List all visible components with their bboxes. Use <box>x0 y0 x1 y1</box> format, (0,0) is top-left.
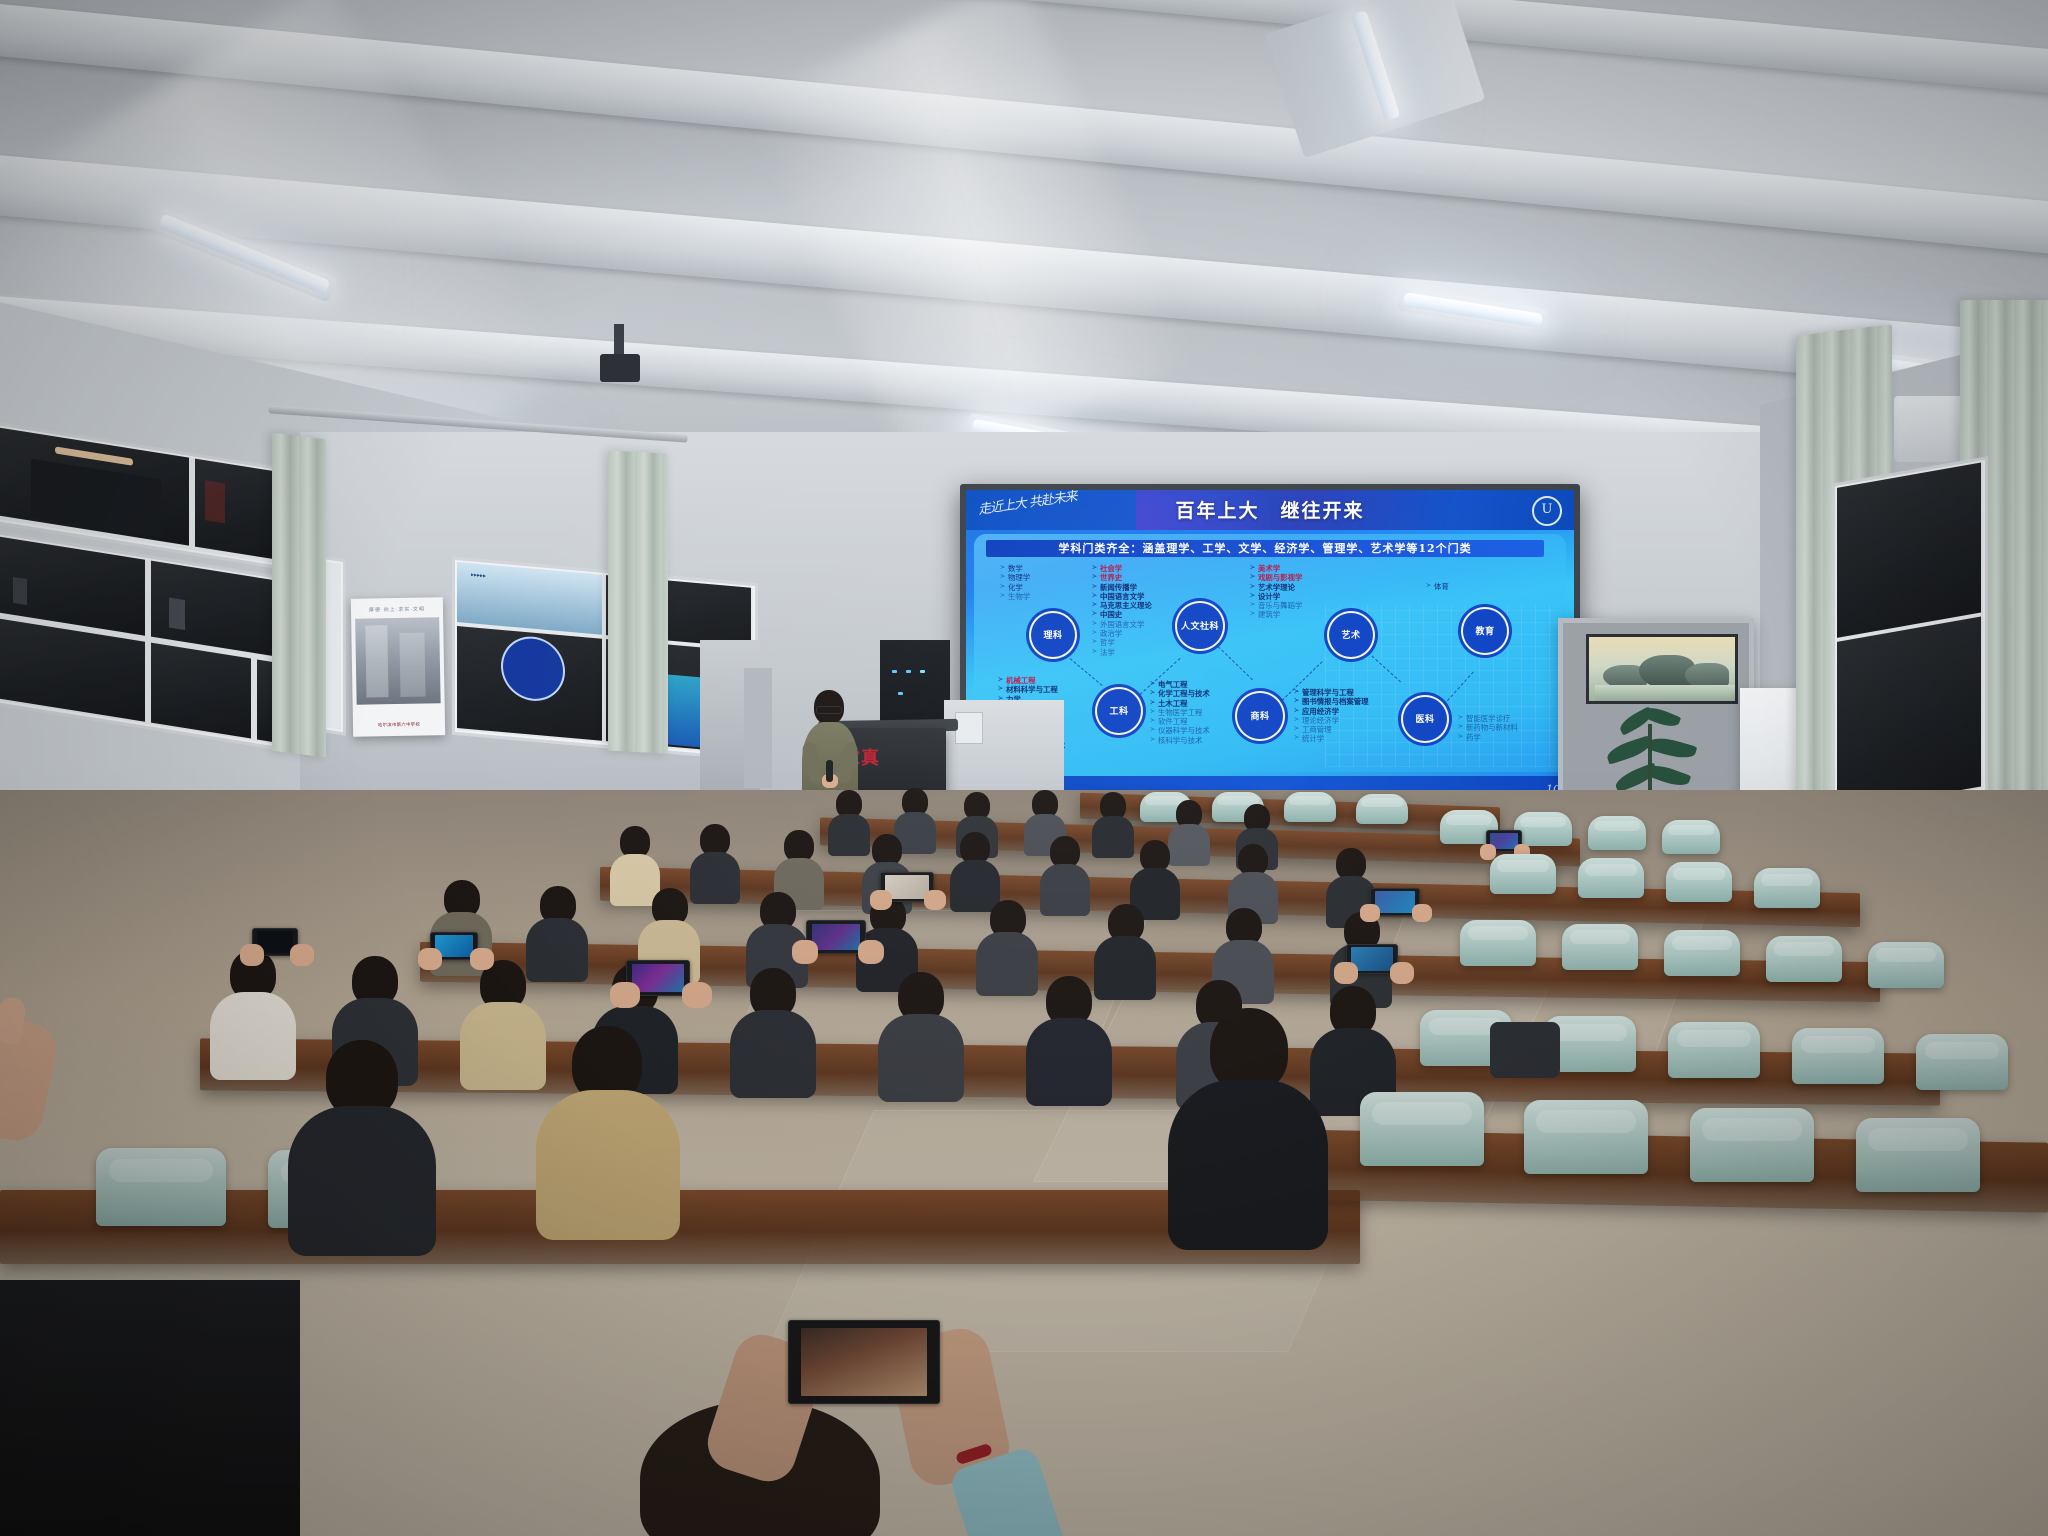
lecture-hall-photo: 厚德·向上·求实·文明 哈尔滨市第六中学校 ▸▸▸▸▸ 走近上大 共赴未来 百年… <box>0 0 2048 1536</box>
university-logo-icon: U <box>1532 496 1562 526</box>
slide-banner: 学科门类齐全：涵盖理学、工学、文学、经济学、管理学、艺术学等12个门类 <box>986 540 1544 557</box>
curtain-left <box>272 433 326 758</box>
connector-line <box>1218 646 1253 680</box>
seat[interactable] <box>1766 936 1842 982</box>
glasses-icon <box>816 706 842 714</box>
landscape-painting <box>1586 634 1738 704</box>
seat[interactable] <box>1562 924 1638 970</box>
major-list-education: 体育 <box>1426 582 1449 591</box>
handbag <box>1490 1022 1560 1078</box>
curtain-mid-left <box>608 450 668 753</box>
major-list-humanities: 社会学 世界史 新闻传播学 中国语言文学 马克思主义理论 中国史 外国语言文学 … <box>1092 564 1152 657</box>
major-list-arts: 美术学 戏剧与影视学 艺术学理论 设计学 音乐与舞蹈学 建筑学 <box>1250 564 1302 620</box>
seat[interactable] <box>1578 858 1644 898</box>
seat[interactable] <box>1356 794 1408 824</box>
ceiling-light <box>1265 0 1486 158</box>
major-list-engineering-right: 电气工程 化学工程与技术 土木工程 生物医学工程 软件工程 仪器科学与技术 核科… <box>1150 680 1210 745</box>
gear-medicine: 医科 <box>1406 700 1444 738</box>
seat[interactable] <box>1754 868 1820 908</box>
seat[interactable] <box>1856 1118 1980 1192</box>
seat[interactable] <box>1588 816 1646 850</box>
light-switch-plate[interactable] <box>955 712 983 744</box>
poster-building-image <box>355 617 440 704</box>
gear-arts: 艺术 <box>1332 616 1370 654</box>
wall-panel <box>744 668 772 788</box>
smartphone[interactable] <box>788 1320 940 1404</box>
seat[interactable] <box>1284 792 1336 822</box>
seat[interactable] <box>1460 920 1536 966</box>
gear-engineering: 工科 <box>1100 692 1138 730</box>
seat[interactable] <box>1360 1092 1484 1166</box>
seat[interactable] <box>1662 820 1720 854</box>
foreground-seat-back <box>0 1280 300 1536</box>
poster-headline: 厚德·向上·求实·文明 <box>351 605 443 614</box>
gear-education: 教育 <box>1466 612 1504 650</box>
seat[interactable] <box>1666 862 1732 902</box>
seat[interactable] <box>1490 854 1556 894</box>
seat[interactable] <box>1916 1034 2008 1090</box>
seat[interactable] <box>1690 1108 1814 1182</box>
gear-science: 理科 <box>1034 616 1072 654</box>
seat[interactable] <box>96 1148 226 1226</box>
connector-line <box>1070 658 1103 686</box>
projector <box>600 354 640 382</box>
gear-humanities: 人文社科 <box>1180 606 1220 646</box>
school-poster: 厚德·向上·求实·文明 哈尔滨市第六中学校 <box>351 597 445 737</box>
seat[interactable] <box>1668 1022 1760 1078</box>
major-list-science: 数学 物理学 化学 生物学 <box>1000 564 1030 601</box>
microphone-icon <box>826 760 833 782</box>
major-list-medicine: 智能医学诊疗 新药物与新材料 药学 <box>1458 714 1518 742</box>
seat[interactable] <box>1792 1028 1884 1084</box>
gear-business: 商科 <box>1240 696 1280 736</box>
slide-title: 百年上大 继往开来 <box>966 496 1574 523</box>
seat[interactable] <box>1524 1100 1648 1174</box>
seat[interactable] <box>1664 930 1740 976</box>
window-right <box>1832 456 1988 820</box>
poster-footer: 哈尔滨市第六中学校 <box>353 721 445 729</box>
seat[interactable] <box>1514 812 1572 846</box>
projector-mount <box>614 324 624 356</box>
major-list-business: 管理科学与工程 图书情报与档案管理 应用经济学 理论经济学 工商管理 统计学 <box>1294 688 1369 744</box>
seat[interactable] <box>1868 942 1944 988</box>
